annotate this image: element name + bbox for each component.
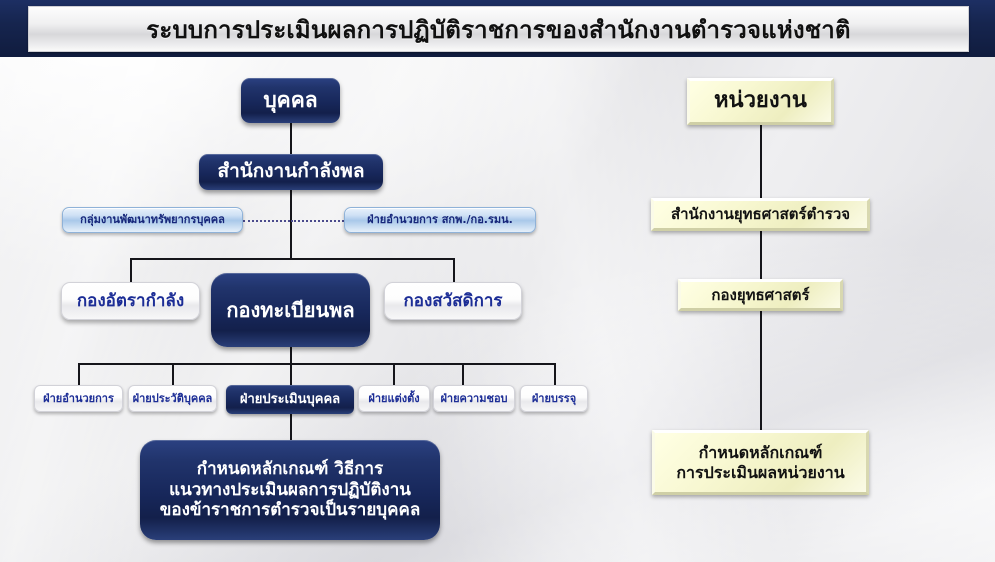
node-staff-hr-development[interactable]: กลุ่มงานพัฒนาทรัพยากรบุคคล: [62, 207, 243, 233]
slide-canvas: ระบบการประเมินผลการปฏิบัติราชการของสำนัก…: [0, 0, 995, 562]
connector-level2-down: [290, 189, 292, 258]
right-outcome-line-1: กำหนดหลักเกณฑ์: [655, 443, 866, 463]
node-division-welfare[interactable]: กองสวัสดิการ: [384, 282, 522, 320]
connector-section-drop-1: [78, 363, 80, 385]
node-right-level2[interactable]: สำนักงานยุทธศาสตร์ตำรวจ: [651, 198, 870, 231]
node-section-personal-history[interactable]: ฝ่ายประวัติบุคคล: [128, 385, 217, 412]
node-right-level3[interactable]: กองยุทธศาสตร์: [678, 279, 843, 311]
node-right-outcome[interactable]: กำหนดหลักเกณฑ์ การประเมินผลหน่วยงาน: [652, 430, 869, 495]
left-outcome-line-1: กำหนดหลักเกณฑ์ วิธีการ: [140, 459, 440, 480]
connector-center-division-down: [290, 347, 292, 364]
connector-root-to-level2: [290, 122, 292, 154]
connector-section-drop-3: [290, 363, 292, 385]
left-outcome-line-3: ของข้าราชการตำรวจเป็นรายบุคคล: [140, 500, 440, 521]
connector-divisions-bar: [130, 258, 454, 260]
title-plate: ระบบการประเมินผลการปฏิบัติราชการของสำนัก…: [28, 6, 969, 52]
right-outcome-line-2: การประเมินผลหน่วยงาน: [655, 463, 866, 483]
connector-staff-left-dotted: [243, 220, 290, 222]
node-left-level2[interactable]: สำนักงานกำลังพล: [199, 154, 383, 190]
left-outcome-line-2: แนวทางประเมินผลการปฏิบัติงาน: [140, 480, 440, 501]
connector-division-right-drop: [453, 258, 455, 282]
connector-section-drop-2: [172, 363, 174, 385]
connector-section-to-outcome: [290, 412, 292, 440]
node-section-merit[interactable]: ฝ่ายความชอบ: [433, 385, 515, 412]
connector-right-root-to-level2: [760, 125, 762, 198]
node-right-root[interactable]: หน่วยงาน: [687, 78, 834, 125]
node-section-appointment[interactable]: ฝ่ายแต่งตั้ง: [358, 385, 430, 412]
connector-staff-right-dotted: [291, 220, 344, 222]
node-left-outcome[interactable]: กำหนดหลักเกณฑ์ วิธีการ แนวทางประเมินผลกา…: [140, 440, 440, 540]
node-division-manpower[interactable]: กองอัตรากำลัง: [61, 282, 200, 320]
node-staff-admin[interactable]: ฝ่ายอำนวยการ สกพ./กอ.รมน.: [344, 207, 536, 233]
connector-section-drop-4: [393, 363, 395, 385]
connector-section-drop-6: [554, 363, 556, 385]
connector-sections-bar: [78, 363, 555, 365]
node-section-personnel-evaluation[interactable]: ฝ่ายประเมินบุคคล: [226, 385, 354, 414]
node-section-administration[interactable]: ฝ่ายอำนวยการ: [34, 385, 123, 412]
connector-division-left-drop: [130, 258, 132, 282]
title-bar: ระบบการประเมินผลการปฏิบัติราชการของสำนัก…: [0, 0, 995, 57]
page-title: ระบบการประเมินผลการปฏิบัติราชการของสำนัก…: [146, 10, 850, 49]
node-left-root[interactable]: บุคคล: [241, 78, 340, 123]
node-division-registration[interactable]: กองทะเบียนพล: [211, 273, 370, 347]
connector-section-drop-5: [462, 363, 464, 385]
connector-right-level2-to-level3: [760, 231, 762, 279]
node-section-recruitment[interactable]: ฝ่ายบรรจุ: [520, 385, 588, 412]
connector-right-level3-to-outcome: [760, 311, 762, 430]
